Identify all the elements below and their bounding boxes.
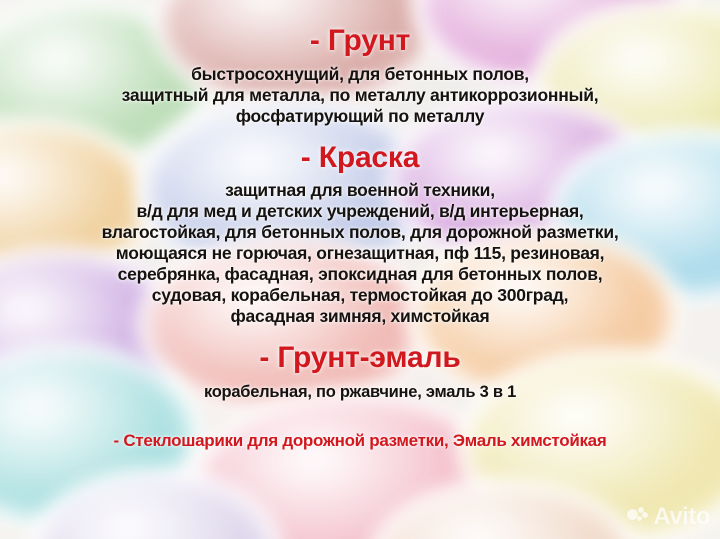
section-heading-grunt-emal: - Грунт-эмаль bbox=[259, 343, 460, 374]
paint-products-poster: - Грунт быстросохнущий, для бетонных пол… bbox=[0, 0, 720, 539]
avito-watermark-label: Avito bbox=[653, 503, 710, 531]
footer-offer-line: - Стеклошарики для дорожной разметки, Эм… bbox=[114, 431, 607, 451]
section-body-grunt-emal: корабельная, по ржавчине, эмаль 3 в 1 bbox=[204, 383, 516, 403]
avito-dots-icon bbox=[627, 507, 649, 527]
section-body-kraska: защитная для военной техники, в/д для ме… bbox=[102, 180, 619, 327]
section-heading-kraska: - Краска bbox=[301, 143, 419, 174]
poster-content: - Грунт быстросохнущий, для бетонных пол… bbox=[0, 0, 720, 539]
section-heading-grunt: - Грунт bbox=[310, 26, 410, 57]
section-body-grunt: быстросохнущий, для бетонных полов, защи… bbox=[122, 64, 599, 127]
avito-watermark: Avito bbox=[627, 503, 710, 531]
